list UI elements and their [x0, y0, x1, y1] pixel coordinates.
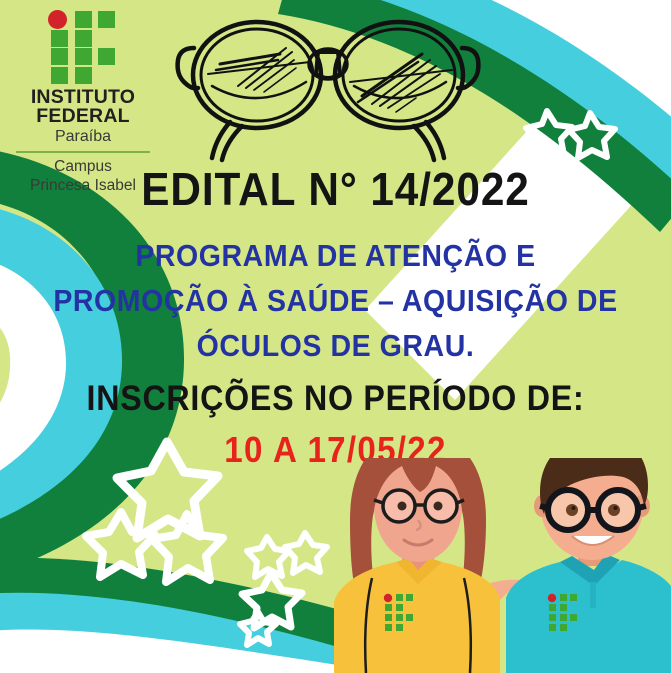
registration-period-label: INSCRIÇÕES NO PERÍODO DE:: [27, 381, 644, 416]
program-line-3: ÓCULOS DE GRAU.: [27, 330, 644, 361]
star-icon: [569, 113, 615, 158]
program-line-1: PROGRAMA DE ATENÇÃO E: [27, 240, 644, 271]
logo-divider: [16, 151, 150, 153]
ifpb-logo-icon: [47, 10, 119, 82]
poster-canvas: INSTITUTO FEDERAL Paraíba Campus Princes…: [0, 0, 671, 673]
institute-state: Paraíba: [8, 127, 158, 147]
program-line-2: PROMOÇÃO À SAÚDE – AQUISIÇÃO DE: [27, 285, 644, 316]
eyeglasses-icon: [168, 12, 488, 164]
edital-title: EDITAL N° 14/2022: [27, 166, 644, 212]
star-icon: [526, 111, 572, 156]
woman-with-glasses-icon: [334, 458, 500, 673]
institute-name-line2: FEDERAL: [8, 107, 158, 126]
ribbon-top-right: [471, 0, 671, 95]
people-illustration: [0, 458, 671, 673]
